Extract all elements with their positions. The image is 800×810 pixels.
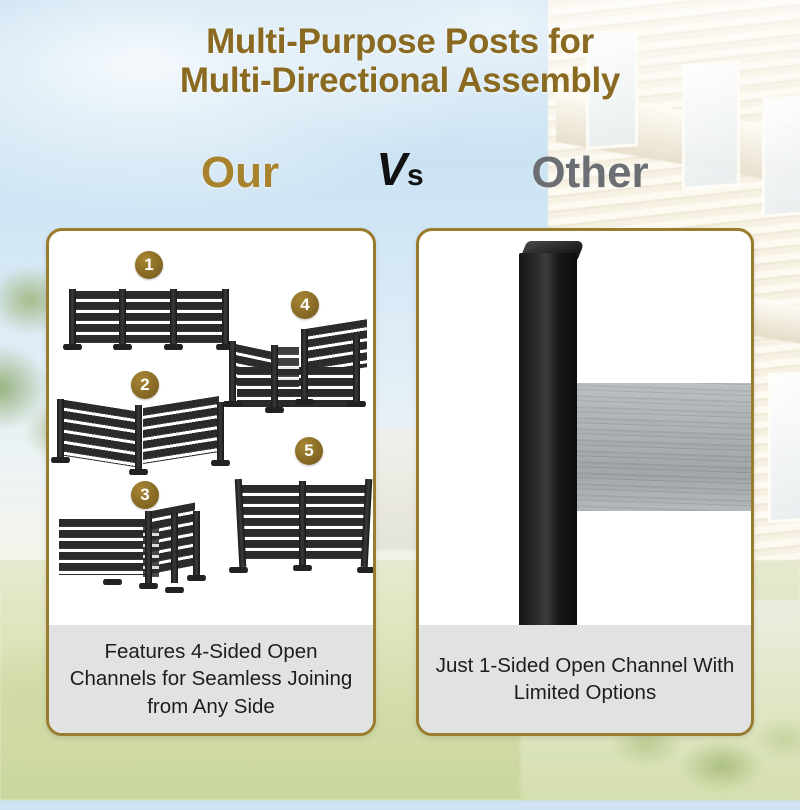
badge-1: 1 — [135, 251, 163, 279]
wood-rail-board — [571, 383, 754, 511]
our-label: Our — [160, 148, 320, 198]
vs-letter-s: s — [407, 159, 424, 192]
fence-t-junction — [59, 511, 211, 601]
badge-5: 5 — [295, 437, 323, 465]
our-product-panel: 1 2 3 — [46, 228, 376, 736]
other-product-stage — [419, 231, 751, 625]
other-label: Other — [500, 148, 680, 198]
badge-3: 3 — [131, 481, 159, 509]
single-channel-post — [519, 253, 577, 631]
badge-4: 4 — [291, 291, 319, 319]
page-title-line2: Multi-Directional Assembly — [0, 61, 800, 100]
our-product-stage: 1 2 3 — [49, 231, 373, 625]
other-caption: Just 1-Sided Open Channel With Limited O… — [419, 625, 751, 733]
fence-straight-run — [67, 289, 231, 351]
fence-u-enclosure — [227, 323, 373, 419]
other-product-panel: Just 1-Sided Open Channel With Limited O… — [416, 228, 754, 736]
badge-2: 2 — [131, 371, 159, 399]
fence-long-panel — [233, 479, 373, 583]
vs-letter-v: V — [376, 143, 407, 195]
fence-corner — [57, 399, 227, 485]
vs-label: Vs — [352, 142, 448, 196]
house-window — [768, 371, 800, 523]
comparison-header: Our Vs Other — [0, 148, 800, 206]
page-title-line1: Multi-Purpose Posts for — [0, 22, 800, 61]
page-title: Multi-Purpose Posts for Multi-Directiona… — [0, 22, 800, 100]
our-caption: Features 4-Sided Open Channels for Seaml… — [49, 625, 373, 733]
